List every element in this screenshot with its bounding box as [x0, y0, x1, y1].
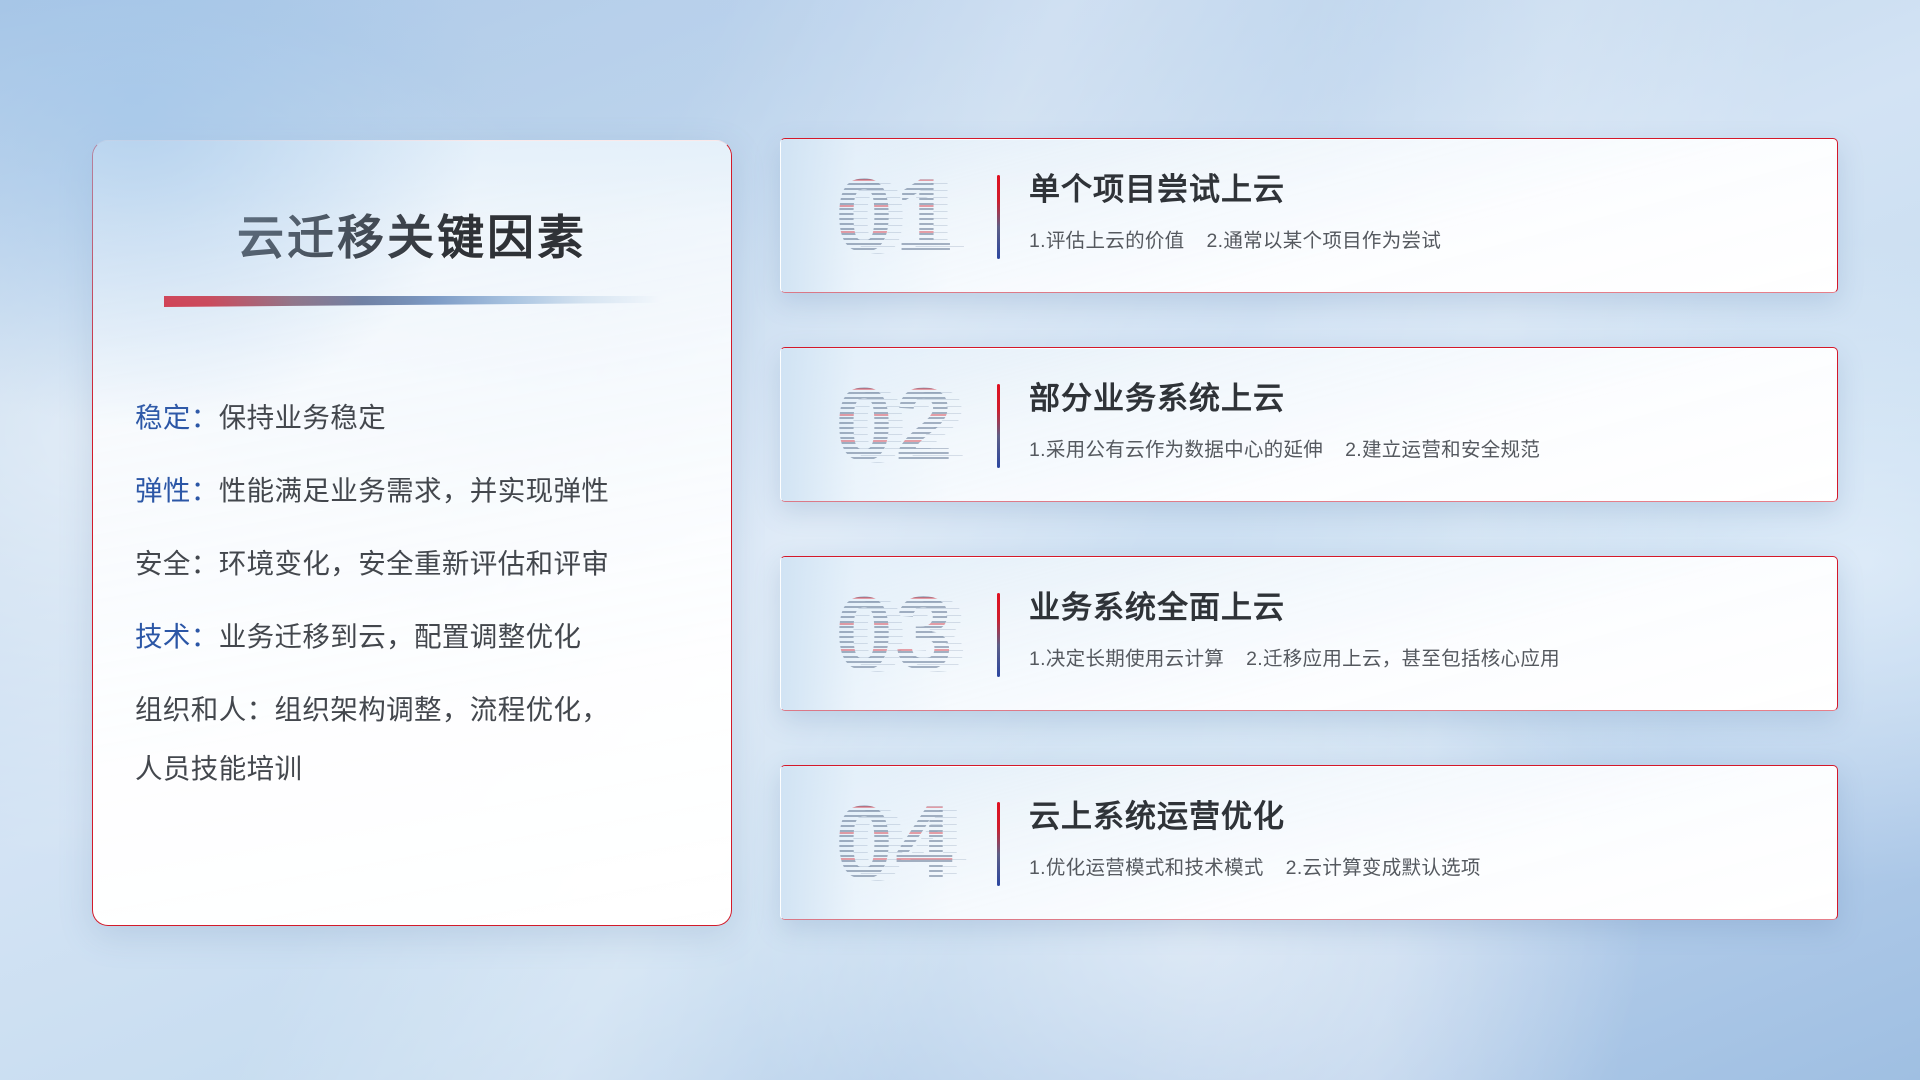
- card-body: 云上系统运营优化 1.优化运营模式和技术模式2.云计算变成默认选项: [1029, 798, 1813, 880]
- stage-number-red-overlay: 02: [815, 362, 975, 488]
- stage-number-glyph: 04: [815, 780, 975, 906]
- card-body: 业务系统全面上云 1.决定长期使用云计算2.迁移应用上云，甚至包括核心应用: [1029, 589, 1813, 671]
- card-subtitle-part-1: 1.优化运营模式和技术模式: [1029, 857, 1264, 879]
- card-left-gradient: [780, 765, 949, 920]
- factor-label: 安全：: [135, 548, 219, 579]
- title-underline-rule: [164, 296, 660, 307]
- stage-number-glyph: 01: [815, 153, 975, 279]
- card-subtitle-part-2: 2.通常以某个项目作为尝试: [1206, 230, 1441, 252]
- stage-number-ghost-offset: 03: [829, 573, 989, 699]
- list-item: 稳定：保持业务稳定: [135, 399, 731, 437]
- factor-text: 保持业务稳定: [219, 402, 386, 433]
- card-title: 部分业务系统上云: [1029, 380, 1813, 419]
- stage-card-list: 01 01 01 单个项目尝试上云 1.评估上云的价值2.通常以某个项目作为尝试…: [780, 138, 1838, 920]
- card-subtitle: 1.评估上云的价值2.通常以某个项目作为尝试: [1029, 224, 1813, 253]
- card-accent-bar: [997, 802, 1000, 886]
- page-title: 云迁移关键因素: [93, 199, 731, 268]
- card-accent-bar: [997, 175, 1000, 259]
- stage-number-red-overlay: 03: [815, 571, 975, 697]
- card-body: 部分业务系统上云 1.采用公有云作为数据中心的延伸2.建立运营和安全规范: [1029, 380, 1813, 462]
- card-accent-bar: [997, 593, 1000, 677]
- card-subtitle-part-1: 1.评估上云的价值: [1029, 230, 1184, 252]
- list-item: 技术：业务迁移到云，配置调整优化: [135, 618, 731, 656]
- card-subtitle-part-2: 2.云计算变成默认选项: [1286, 857, 1481, 879]
- factor-text: 人员技能培训: [135, 753, 302, 784]
- card-subtitle: 1.优化运营模式和技术模式2.云计算变成默认选项: [1029, 851, 1813, 880]
- factor-text: 业务迁移到云，配置调整优化: [219, 621, 582, 652]
- factor-label: 组织和人：: [135, 694, 275, 725]
- stage-number-glyph: 02: [815, 362, 975, 488]
- key-factors-panel: 云迁移关键因素 稳定：保持业务稳定 弹性：性能满足业务需求，并实现弹性 安全：环…: [92, 140, 732, 926]
- factor-text: 环境变化，安全重新评估和评审: [219, 548, 610, 579]
- card-left-gradient: [780, 556, 949, 711]
- list-item: 安全：环境变化，安全重新评估和评审: [135, 545, 731, 583]
- card-subtitle: 1.采用公有云作为数据中心的延伸2.建立运营和安全规范: [1029, 433, 1813, 462]
- factor-label: 弹性：: [135, 475, 219, 506]
- stage-number-red-overlay: 04: [815, 780, 975, 906]
- list-item: 弹性：性能满足业务需求，并实现弹性: [135, 472, 731, 510]
- factor-text: 组织架构调整，流程优化，: [275, 694, 610, 725]
- list-item: 组织和人：组织架构调整，流程优化，: [135, 691, 731, 729]
- stage-number-ghost-offset: 02: [829, 364, 989, 490]
- card-body: 单个项目尝试上云 1.评估上云的价值2.通常以某个项目作为尝试: [1029, 171, 1813, 253]
- stage-card-02[interactable]: 02 02 02 部分业务系统上云 1.采用公有云作为数据中心的延伸2.建立运营…: [780, 347, 1838, 502]
- stage-card-03[interactable]: 03 03 03 业务系统全面上云 1.决定长期使用云计算2.迁移应用上云，甚至…: [780, 556, 1838, 711]
- card-title: 单个项目尝试上云: [1029, 171, 1813, 210]
- factor-list: 稳定：保持业务稳定 弹性：性能满足业务需求，并实现弹性 安全：环境变化，安全重新…: [135, 399, 731, 788]
- stage-number-red-overlay: 01: [815, 153, 975, 279]
- factor-label: 技术：: [135, 621, 219, 652]
- card-subtitle-part-2: 2.迁移应用上云，甚至包括核心应用: [1246, 648, 1560, 670]
- card-accent-bar: [997, 384, 1000, 468]
- card-subtitle-part-2: 2.建立运营和安全规范: [1345, 439, 1540, 461]
- card-subtitle-part-1: 1.决定长期使用云计算: [1029, 648, 1224, 670]
- card-subtitle-part-1: 1.采用公有云作为数据中心的延伸: [1029, 439, 1323, 461]
- stage-number-ghost-offset: 04: [829, 782, 989, 908]
- card-left-gradient: [780, 138, 949, 293]
- stage-card-04[interactable]: 04 04 04 云上系统运营优化 1.优化运营模式和技术模式2.云计算变成默认…: [780, 765, 1838, 920]
- stage-number-glyph: 03: [815, 571, 975, 697]
- card-title: 业务系统全面上云: [1029, 589, 1813, 628]
- card-title: 云上系统运营优化: [1029, 798, 1813, 837]
- stage-number-ghost-offset: 01: [829, 155, 989, 281]
- card-left-gradient: [780, 347, 949, 502]
- slide-canvas: 云迁移关键因素 稳定：保持业务稳定 弹性：性能满足业务需求，并实现弹性 安全：环…: [0, 0, 1920, 1080]
- factor-text: 性能满足业务需求，并实现弹性: [219, 475, 610, 506]
- list-item-continuation: 人员技能培训: [135, 750, 731, 788]
- factor-label: 稳定：: [135, 402, 219, 433]
- stage-card-01[interactable]: 01 01 01 单个项目尝试上云 1.评估上云的价值2.通常以某个项目作为尝试: [780, 138, 1838, 293]
- card-subtitle: 1.决定长期使用云计算2.迁移应用上云，甚至包括核心应用: [1029, 642, 1813, 671]
